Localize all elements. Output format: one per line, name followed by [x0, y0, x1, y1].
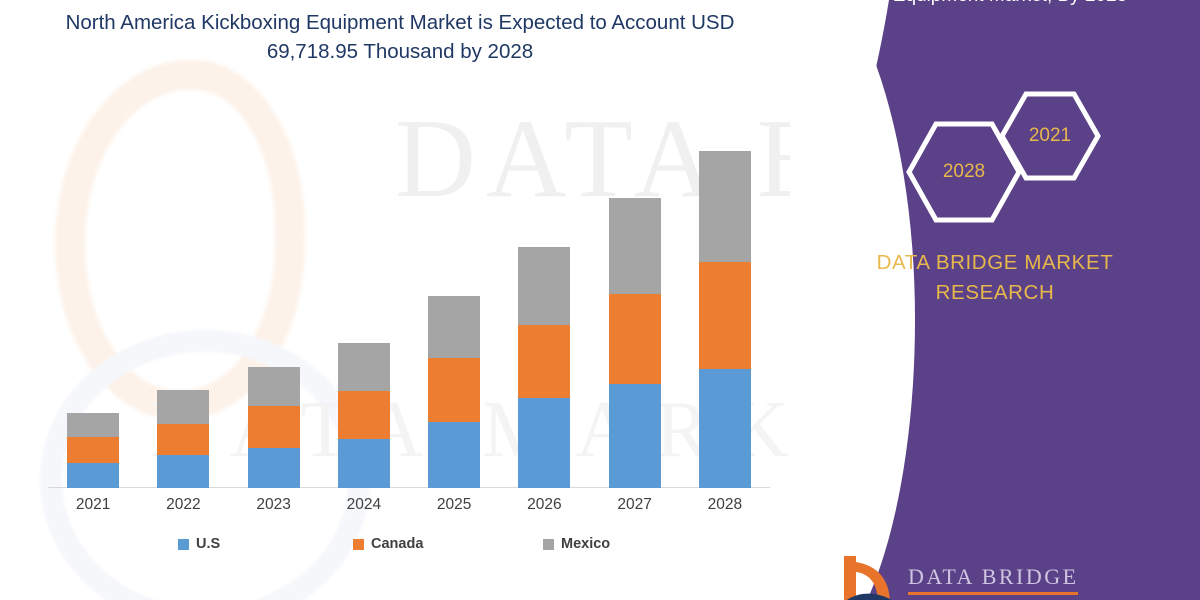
bar-group[interactable]	[518, 247, 570, 488]
brand-panel: R Equipment Market, By 2028 2028 2021 DA…	[790, 0, 1200, 600]
x-tick-2028: 2028	[680, 496, 770, 514]
bar-segment-canada[interactable]	[67, 437, 119, 463]
bar-segment-canada[interactable]	[428, 358, 480, 422]
bar-segment-us[interactable]	[338, 439, 390, 488]
bar-segment-mexico[interactable]	[428, 296, 480, 358]
legend-item-mexico[interactable]: Mexico	[543, 536, 610, 552]
legend-label: Canada	[371, 536, 423, 552]
bar-segment-canada[interactable]	[518, 325, 570, 398]
panel-title: Equipment Market, By 2028	[840, 0, 1180, 12]
plot-area	[48, 120, 770, 488]
chart-panel: DATA BR DATA MARKET RE North America Kic…	[0, 0, 880, 600]
x-tick-2024: 2024	[319, 496, 409, 514]
x-tick-2026: 2026	[499, 496, 589, 514]
bar-segment-us[interactable]	[518, 398, 570, 488]
bar-group[interactable]	[248, 367, 300, 488]
legend-label: U.S	[196, 536, 220, 552]
hexagon-badge-2021: 2021	[998, 90, 1102, 182]
bar-group[interactable]	[609, 198, 661, 488]
bar-segment-mexico[interactable]	[157, 390, 209, 424]
bar-group[interactable]	[428, 296, 480, 488]
bar-segment-us[interactable]	[609, 384, 661, 488]
bar-group[interactable]	[699, 151, 751, 488]
bar-segment-us[interactable]	[67, 463, 119, 488]
logo-wordmark: DATA BRIDGE MARKET RESEARCH	[908, 552, 1079, 600]
bar-group[interactable]	[157, 390, 209, 488]
x-tick-2025: 2025	[409, 496, 499, 514]
x-axis-tick-labels: 20212022202320242025202620272028	[48, 496, 770, 524]
hexagon-label: 2028	[943, 161, 985, 183]
bar-segment-mexico[interactable]	[609, 198, 661, 294]
x-tick-2022: 2022	[138, 496, 228, 514]
hexagon-label: 2021	[1029, 125, 1071, 147]
dbmr-logo: DATA BRIDGE MARKET RESEARCH	[840, 552, 1200, 600]
bar-segment-canada[interactable]	[157, 424, 209, 455]
logo-divider	[908, 592, 1078, 595]
logo-name: DATA BRIDGE	[908, 564, 1079, 590]
bar-segment-mexico[interactable]	[518, 247, 570, 325]
legend-swatch	[543, 539, 554, 550]
chart-legend: U.SCanadaMexico	[48, 536, 770, 562]
legend-label: Mexico	[561, 536, 610, 552]
legend-swatch	[178, 539, 189, 550]
bar-segment-us[interactable]	[157, 455, 209, 488]
legend-item-us[interactable]: U.S	[178, 536, 220, 552]
bar-segment-canada[interactable]	[699, 262, 751, 369]
legend-swatch	[353, 539, 364, 550]
x-tick-2021: 2021	[48, 496, 138, 514]
bar-segment-mexico[interactable]	[248, 367, 300, 406]
infographic-canvas: DATA BR DATA MARKET RE North America Kic…	[0, 0, 1200, 600]
bar-segment-canada[interactable]	[248, 406, 300, 448]
x-tick-2027: 2027	[590, 496, 680, 514]
bar-segment-canada[interactable]	[609, 294, 661, 384]
legend-item-canada[interactable]: Canada	[353, 536, 423, 552]
bar-segment-mexico[interactable]	[338, 343, 390, 391]
chart-title: North America Kickboxing Equipment Marke…	[60, 8, 740, 66]
bar-segment-mexico[interactable]	[67, 413, 119, 437]
bar-segment-canada[interactable]	[338, 391, 390, 439]
bar-group[interactable]	[67, 413, 119, 488]
x-tick-2023: 2023	[229, 496, 319, 514]
bar-segment-us[interactable]	[248, 448, 300, 488]
brand-name: DATA BRIDGE MARKET RESEARCH	[820, 248, 1170, 308]
hexagon-group: 2028 2021	[905, 90, 1135, 225]
bar-group[interactable]	[338, 343, 390, 488]
bridge-logo-icon	[840, 552, 894, 600]
bar-segment-mexico[interactable]	[699, 151, 751, 262]
bar-segment-us[interactable]	[699, 369, 751, 488]
bar-segment-us[interactable]	[428, 422, 480, 488]
